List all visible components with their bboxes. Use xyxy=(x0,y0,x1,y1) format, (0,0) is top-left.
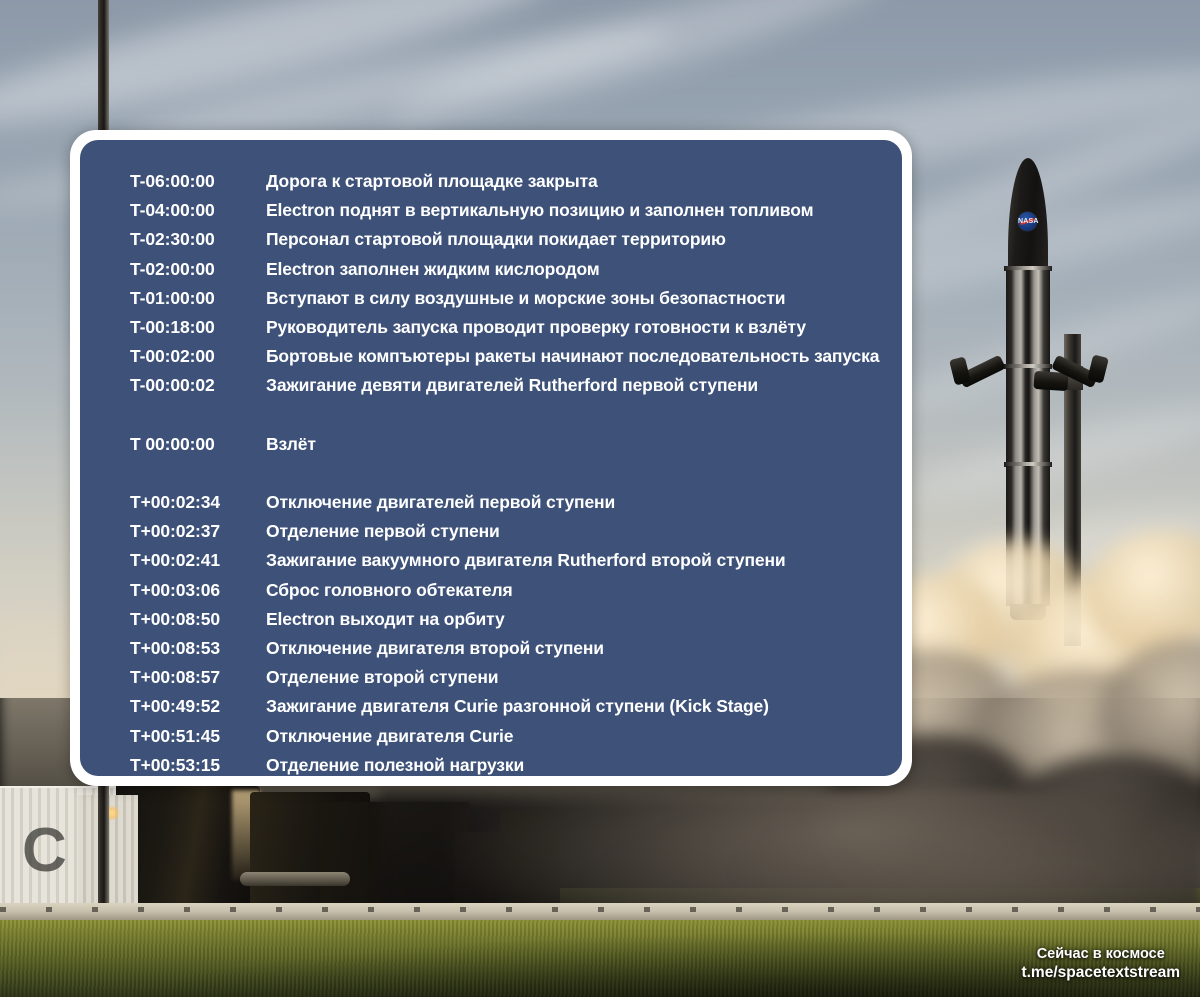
pad-building-letter: C xyxy=(22,820,67,882)
grass-shadow xyxy=(0,920,1200,997)
timeline-time: T-06:00:00 xyxy=(130,171,266,192)
timeline-row: T-06:00:00Дорога к стартовой площадке за… xyxy=(130,171,902,200)
timeline-row: T-00:18:00Руководитель запуска проводит … xyxy=(130,317,902,346)
timeline-event: Electron выходит на орбиту xyxy=(266,609,505,630)
timeline-time: T+00:03:06 xyxy=(130,580,266,601)
timeline-event: Дорога к стартовой площадке закрыта xyxy=(266,171,598,192)
timeline-time: T-00:18:00 xyxy=(130,317,266,338)
timeline-time: T+00:51:45 xyxy=(130,726,266,747)
road-markings xyxy=(0,907,1200,912)
timeline-time: T-04:00:00 xyxy=(130,200,266,221)
timeline-time: T+00:08:53 xyxy=(130,638,266,659)
timeline-event: Персонал стартовой площадки покидает тер… xyxy=(266,229,726,250)
channel-watermark: Сейчас в космосе t.me/spacetextstream xyxy=(1021,946,1180,983)
timeline-row: T+00:08:53Отключение двигателя второй ст… xyxy=(130,638,902,667)
timeline-panel-body: T-06:00:00Дорога к стартовой площадке за… xyxy=(80,140,902,776)
timeline-time: T-00:02:00 xyxy=(130,346,266,367)
timeline-row: T+00:08:50Electron выходит на орбиту xyxy=(130,609,902,638)
timeline-time: T-01:00:00 xyxy=(130,288,266,309)
rocket-body-segment xyxy=(1006,270,1050,366)
timeline-event: Взлёт xyxy=(266,434,316,455)
timeline-row: T+00:02:37Отделение первой ступени xyxy=(130,521,902,550)
nasa-logo-label: NASA xyxy=(1018,216,1037,227)
timeline-event: Отключение двигателя второй ступени xyxy=(266,638,604,659)
timeline-spacer xyxy=(130,405,902,434)
timeline-event: Electron заполнен жидким кислородом xyxy=(266,259,600,280)
timeline-time: T+00:49:52 xyxy=(130,696,266,717)
watermark-link[interactable]: t.me/spacetextstream xyxy=(1021,964,1180,983)
timeline-event: Отключение двигателя Curie xyxy=(266,726,513,747)
timeline-time: T-02:00:00 xyxy=(130,259,266,280)
timeline-row: T+00:02:41Зажигание вакуумного двигателя… xyxy=(130,550,902,579)
timeline-event: Сброс головного обтекателя xyxy=(266,580,513,601)
timeline-row: T-04:00:00Electron поднят в вертикальную… xyxy=(130,200,902,229)
timeline-row: T 00:00:00Взлёт xyxy=(130,434,902,463)
timeline-event: Отключение двигателей первой ступени xyxy=(266,492,615,513)
timeline-row: T-00:00:02Зажигание девяти двигателей Ru… xyxy=(130,375,902,404)
timeline-time: T-02:30:00 xyxy=(130,229,266,250)
timeline-time: T+00:02:37 xyxy=(130,521,266,542)
timeline-event: Electron поднят в вертикальную позицию и… xyxy=(266,200,813,221)
timeline-event: Руководитель запуска проводит проверку г… xyxy=(266,317,806,338)
timeline-time: T+00:08:50 xyxy=(130,609,266,630)
timeline-time: T+00:53:15 xyxy=(130,755,266,776)
screenshot-root: NASA C xyxy=(0,0,1200,997)
timeline-time: T-00:00:02 xyxy=(130,375,266,396)
timeline-panel: T-06:00:00Дорога к стартовой площадке за… xyxy=(70,130,912,786)
timeline-event: Бортовые компъютеры ракеты начинают посл… xyxy=(266,346,879,367)
timeline-event: Вступают в силу воздушные и морские зоны… xyxy=(266,288,785,309)
timeline-row: T+00:08:57Отделение второй ступени xyxy=(130,667,902,696)
timeline-time: T+00:02:41 xyxy=(130,550,266,571)
timeline-time: T+00:08:57 xyxy=(130,667,266,688)
timeline-row: T+00:49:52Зажигание двигателя Curie разг… xyxy=(130,696,902,725)
timeline-row: T-00:02:00Бортовые компъютеры ракеты нач… xyxy=(130,346,902,375)
timeline-event: Отделение первой ступени xyxy=(266,521,500,542)
timeline-event: Зажигание девяти двигателей Rutherford п… xyxy=(266,375,758,396)
timeline-row: T+00:02:34Отключение двигателей первой с… xyxy=(130,492,902,521)
timeline-row: T-02:30:00Персонал стартовой площадки по… xyxy=(130,229,902,258)
timeline-row: T+00:53:15Отделение полезной нагрузки xyxy=(130,755,902,784)
timeline-row: T-01:00:00Вступают в силу воздушные и мо… xyxy=(130,288,902,317)
timeline-event: Зажигание двигателя Curie разгонной ступ… xyxy=(266,696,769,717)
launch-timeline-list: T-06:00:00Дорога к стартовой площадке за… xyxy=(130,171,902,784)
watermark-title: Сейчас в космосе xyxy=(1021,946,1180,964)
timeline-event: Отделение полезной нагрузки xyxy=(266,755,524,776)
timeline-row: T-02:00:00Electron заполнен жидким кисло… xyxy=(130,259,902,288)
timeline-time: T 00:00:00 xyxy=(130,434,266,455)
timeline-row: T+00:03:06Сброс головного обтекателя xyxy=(130,580,902,609)
pad-pipework xyxy=(240,872,350,886)
timeline-row: T+00:51:45Отключение двигателя Curie xyxy=(130,726,902,755)
timeline-time: T+00:02:34 xyxy=(130,492,266,513)
timeline-event: Отделение второй ступени xyxy=(266,667,498,688)
timeline-event: Зажигание вакуумного двигателя Rutherfor… xyxy=(266,550,786,571)
timeline-spacer xyxy=(130,463,902,492)
